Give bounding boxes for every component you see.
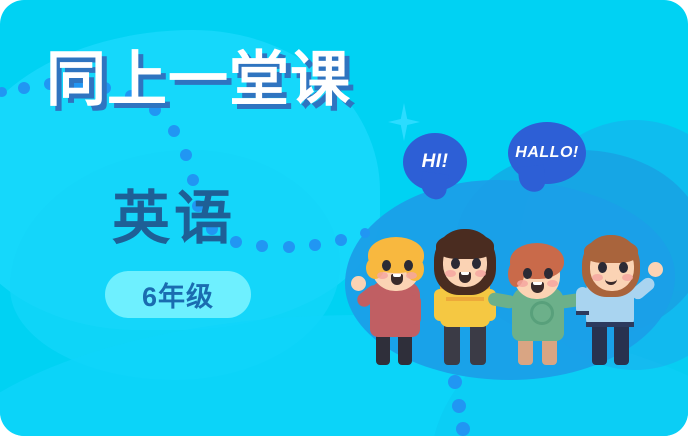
path-dot [0, 87, 7, 97]
path-dot [335, 234, 347, 246]
speech-bubble-hi-text: HI! [422, 151, 449, 173]
path-dot [180, 149, 192, 161]
grade-badge-label: 6年级 [142, 275, 214, 314]
speech-bubble-hallo-text: HALLO! [515, 144, 578, 162]
path-dot [168, 125, 180, 137]
path-dot [448, 375, 462, 389]
child-brown-hair-girl [426, 193, 510, 365]
speech-bubble-tail [518, 165, 547, 194]
path-dot [18, 82, 30, 94]
child-blue-shirt-waving [568, 193, 660, 365]
path-dot [283, 241, 295, 253]
sparkle-icon [388, 103, 420, 141]
grade-badge: 6年级 [105, 271, 251, 318]
path-dot [456, 422, 470, 436]
speech-bubble-hallo: HALLO! [508, 122, 586, 184]
speech-bubble-hi: HI! [403, 133, 467, 191]
path-dot [256, 240, 268, 252]
children-illustration [360, 190, 660, 365]
course-cover-card: 同上一堂课 英语 6年级 HI! HALLO! [0, 0, 688, 436]
page-title: 同上一堂课 [46, 50, 351, 110]
path-dot [309, 239, 321, 251]
background-blob-title-secondary [10, 150, 340, 380]
path-dot [187, 174, 199, 186]
path-dot [452, 399, 466, 413]
subject-title: 英语 [112, 190, 236, 248]
